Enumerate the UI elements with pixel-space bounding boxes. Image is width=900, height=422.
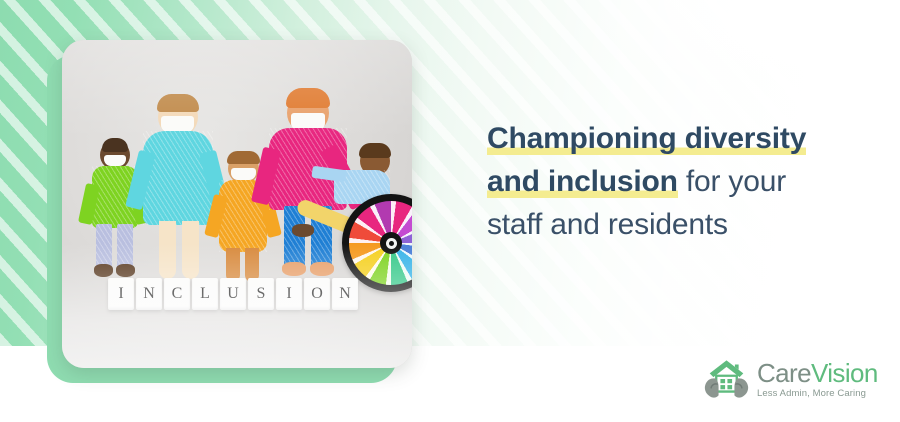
inclusion-photo: I N C L U S I O N	[62, 40, 412, 368]
photo-lighting-overlay	[62, 40, 412, 368]
logo-wordmark: CareVision Less Admin, More Caring	[757, 360, 878, 399]
promo-banner: I N C L U S I O N Championing diversity …	[0, 0, 900, 422]
house-in-hands-icon	[703, 358, 750, 400]
logo-name-vision: Vision	[811, 358, 878, 388]
logo-name: CareVision	[757, 360, 878, 386]
headline-line2-bold: and inclusion	[487, 165, 678, 198]
headline-line1-bold: Championing diversity	[487, 122, 806, 155]
carevision-logo[interactable]: CareVision Less Admin, More Caring	[703, 358, 878, 400]
headline: Championing diversity and inclusion for …	[487, 117, 887, 246]
logo-name-care: Care	[757, 358, 811, 388]
headline-line3: staff and residents	[487, 208, 728, 241]
logo-tagline: Less Admin, More Caring	[757, 389, 878, 399]
headline-line2-rest: for your	[678, 165, 786, 198]
